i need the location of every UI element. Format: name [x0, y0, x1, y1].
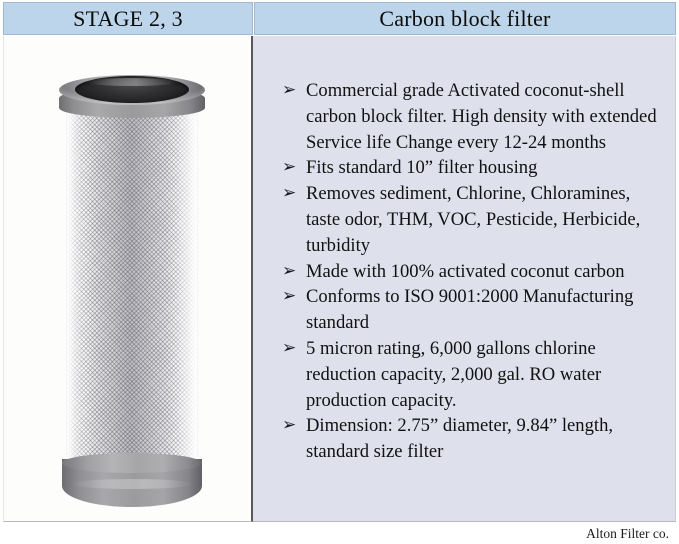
list-item-text: Commercial grade Activated coconut-shell… [306, 80, 657, 153]
page-title: Carbon block filter [379, 8, 550, 30]
header-row: STAGE 2, 3 Carbon block filter [3, 2, 676, 35]
list-item: ➢ Made with 100% activated coconut carbo… [281, 259, 661, 285]
arrow-bullet-icon: ➢ [282, 259, 296, 285]
cartridge-body-shading [66, 97, 198, 487]
cartridge-bottom-cap-lip [62, 453, 202, 473]
slide-canvas: STAGE 2, 3 Carbon block filter [0, 0, 679, 544]
feature-list-panel: ➢ Commercial grade Activated coconut-she… [253, 36, 676, 522]
list-item: ➢ Conforms to ISO 9001:2000 Manufacturin… [281, 284, 661, 336]
list-item: ➢ 5 micron rating, 6,000 gallons chlorin… [281, 336, 661, 413]
cartridge-top-cap-highlight [86, 78, 178, 86]
arrow-bullet-icon: ➢ [282, 181, 296, 207]
filter-cartridge-illustration [58, 55, 208, 517]
stage-label: STAGE 2, 3 [73, 8, 183, 30]
title-header-cell: Carbon block filter [254, 2, 676, 35]
list-item: ➢ Dimension: 2.75” diameter, 9.84” lengt… [281, 413, 661, 465]
body-row: ➢ Commercial grade Activated coconut-she… [3, 36, 676, 522]
list-item: ➢ Removes sediment, Chlorine, Chloramine… [281, 181, 661, 258]
arrow-bullet-icon: ➢ [282, 284, 296, 310]
product-image-panel [3, 36, 253, 522]
list-item-text: Dimension: 2.75” diameter, 9.84” length,… [306, 415, 613, 462]
list-item-text: Made with 100% activated coconut carbon [306, 261, 625, 282]
list-item-text: Conforms to ISO 9001:2000 Manufacturing … [306, 286, 633, 333]
list-item: ➢ Fits standard 10” filter housing [281, 155, 661, 181]
list-item-text: Removes sediment, Chlorine, Chloramines,… [306, 183, 640, 256]
stage-header-cell: STAGE 2, 3 [3, 2, 253, 35]
list-item-text: Fits standard 10” filter housing [306, 157, 537, 178]
arrow-bullet-icon: ➢ [282, 413, 296, 439]
arrow-bullet-icon: ➢ [282, 78, 296, 104]
list-item: ➢ Commercial grade Activated coconut-she… [281, 78, 661, 155]
list-item-text: 5 micron rating, 6,000 gallons chlorine … [306, 338, 601, 411]
arrow-bullet-icon: ➢ [282, 155, 296, 181]
footer-company-name: Alton Filter co. [586, 527, 669, 541]
cartridge-bottom-cap-sheen [70, 479, 194, 489]
feature-list: ➢ Commercial grade Activated coconut-she… [281, 78, 661, 465]
arrow-bullet-icon: ➢ [282, 336, 296, 362]
cartridge-body [66, 97, 198, 487]
